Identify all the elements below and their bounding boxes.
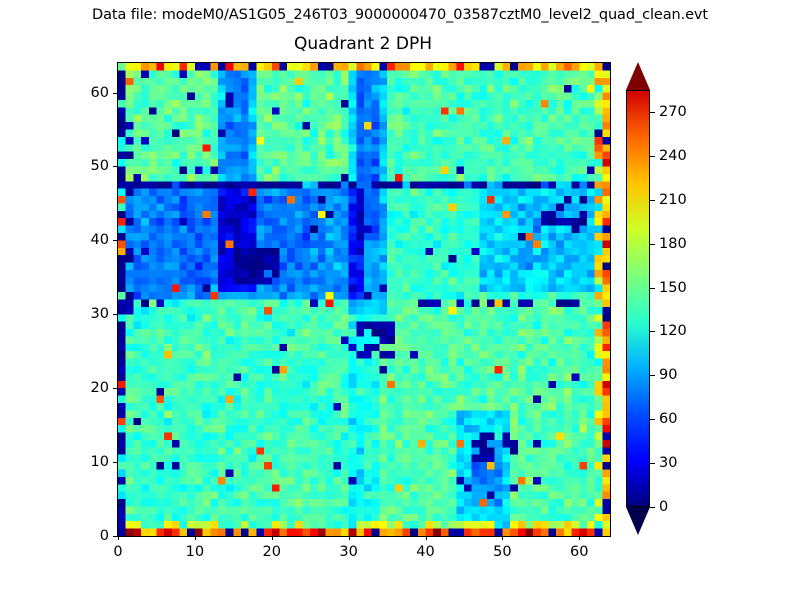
y-tick-label: 40 <box>67 232 109 248</box>
colorbar-tick-mark <box>650 112 655 113</box>
colorbar-tick-mark <box>650 200 655 201</box>
x-tick-label: 10 <box>186 544 204 560</box>
x-tick-label: 30 <box>339 544 357 560</box>
y-tick-label: 20 <box>67 380 109 396</box>
colorbar-tick-label: 120 <box>659 323 687 339</box>
colorbar-tick-label: 60 <box>659 411 677 427</box>
colorbar-tick-label: 270 <box>659 104 687 120</box>
x-tick-mark <box>502 536 503 540</box>
colorbar-tick-mark <box>650 419 655 420</box>
data-file-suptitle: Data file: modeM0/AS1G05_246T03_90000004… <box>0 6 800 24</box>
colorbar-extend-min-arrow <box>626 507 650 535</box>
colorbar-tick-label: 150 <box>659 280 687 296</box>
x-tick-mark <box>426 536 427 540</box>
colorbar-tick-label: 30 <box>659 455 677 471</box>
y-tick-label: 50 <box>67 158 109 174</box>
x-tick-mark <box>195 536 196 540</box>
x-tick-mark <box>579 536 580 540</box>
y-tick-label: 0 <box>67 528 109 544</box>
y-tick-mark <box>113 93 117 94</box>
y-tick-mark <box>113 536 117 537</box>
x-tick-label: 20 <box>263 544 281 560</box>
heatmap-axes[interactable] <box>117 62 611 537</box>
colorbar-tick-label: 240 <box>659 148 687 164</box>
colorbar-extend-max-arrow <box>626 62 650 90</box>
heatmap-image[interactable] <box>118 63 610 536</box>
x-tick-label: 0 <box>113 544 122 560</box>
colorbar-tick-label: 210 <box>659 192 687 208</box>
colorbar-tick-label: 180 <box>659 236 687 252</box>
y-tick-label: 30 <box>67 306 109 322</box>
x-tick-label: 40 <box>416 544 434 560</box>
colorbar-tick-label: 0 <box>659 499 668 515</box>
y-tick-mark <box>113 166 117 167</box>
x-tick-label: 60 <box>570 544 588 560</box>
matplotlib-figure: Data file: modeM0/AS1G05_246T03_90000004… <box>0 0 800 600</box>
colorbar-tick-mark <box>650 375 655 376</box>
colorbar[interactable]: 0306090120150180210240270 <box>626 62 652 535</box>
page-title: Quadrant 2 DPH <box>117 33 609 55</box>
colorbar-tick-mark <box>650 156 655 157</box>
colorbar-tick-mark <box>650 507 655 508</box>
x-tick-mark <box>272 536 273 540</box>
colorbar-tick-mark <box>650 244 655 245</box>
colorbar-tick-mark <box>650 463 655 464</box>
y-tick-mark <box>113 388 117 389</box>
x-tick-label: 50 <box>493 544 511 560</box>
y-tick-mark <box>113 462 117 463</box>
x-tick-mark <box>349 536 350 540</box>
y-tick-mark <box>113 240 117 241</box>
y-tick-label: 10 <box>67 454 109 470</box>
y-tick-mark <box>113 314 117 315</box>
colorbar-tick-mark <box>650 331 655 332</box>
colorbar-gradient <box>626 90 650 507</box>
y-tick-label: 60 <box>67 85 109 101</box>
x-tick-mark <box>118 536 119 540</box>
colorbar-tick-mark <box>650 288 655 289</box>
colorbar-tick-label: 90 <box>659 367 677 383</box>
